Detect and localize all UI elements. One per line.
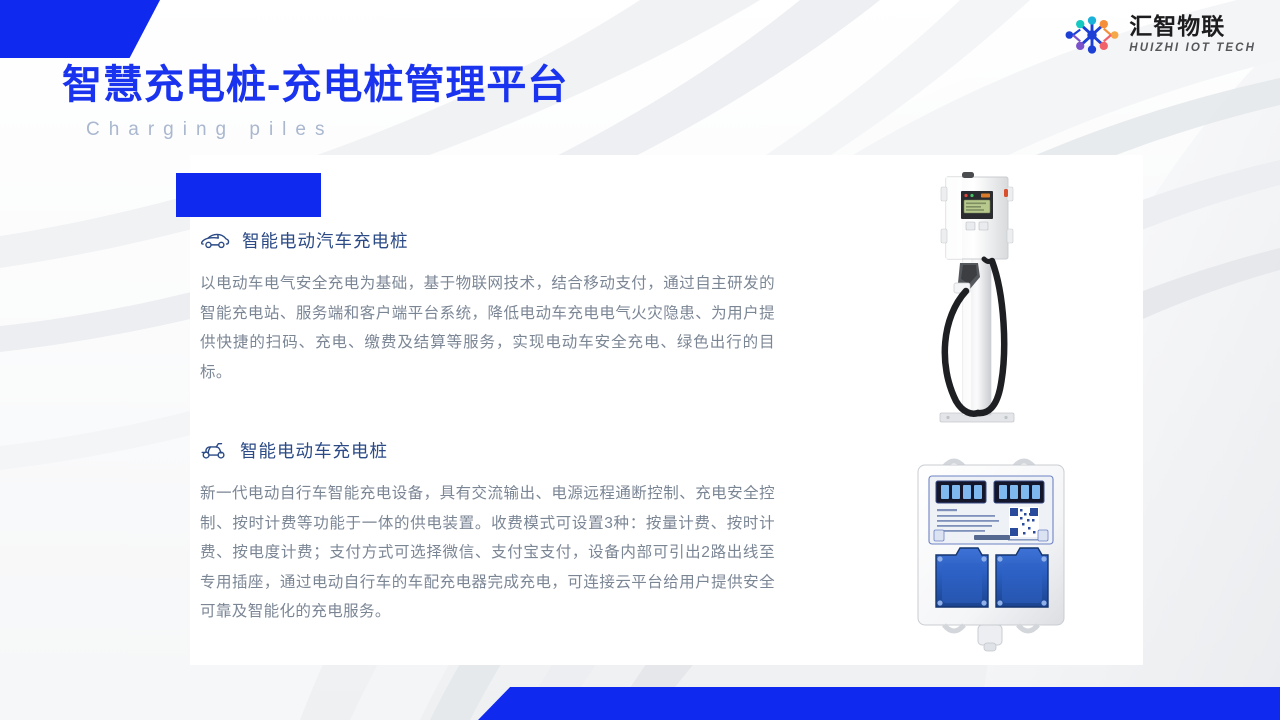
page-subtitle: Charging piles bbox=[86, 119, 568, 141]
logo-chinese-name: 汇智物联 bbox=[1129, 15, 1225, 38]
car-icon bbox=[200, 230, 230, 252]
section-1-body: 以电动车电气安全充电为基础，基于物联网技术，结合移动支付，通过自主研发的智能充电… bbox=[200, 269, 775, 387]
ebike-charging-box-photo bbox=[896, 447, 1086, 657]
page-title-block: 智慧充电桩-充电桩管理平台 Charging piles bbox=[62, 63, 568, 141]
section-ebike-charging-pile: 智能电动车充电桩 新一代电动自行车智能充电设备，具有交流输出、电源远程通断控制、… bbox=[200, 438, 775, 627]
section-1-title: 智能电动汽车充电桩 bbox=[242, 228, 409, 253]
section-ev-charging-pile: 智能电动汽车充电桩 以电动车电气安全充电为基础，基于物联网技术，结合移动支付，通… bbox=[200, 228, 775, 387]
brand-logo: 汇智物联 HUIZHI IOT TECH bbox=[1063, 14, 1256, 56]
molecule-network-icon bbox=[1063, 14, 1121, 56]
logo-english-name: HUIZHI IOT TECH bbox=[1129, 43, 1256, 55]
page-title: 智慧充电桩-充电桩管理平台 bbox=[62, 63, 568, 107]
slide-root: 智慧充电桩-充电桩管理平台 Charging piles bbox=[0, 0, 1280, 720]
scooter-icon bbox=[200, 440, 228, 462]
section-tag-badge bbox=[176, 173, 321, 217]
logo-text-block: 汇智物联 HUIZHI IOT TECH bbox=[1129, 15, 1256, 55]
section-2-body: 新一代电动自行车智能充电设备，具有交流输出、电源远程通断控制、充电安全控制、按时… bbox=[200, 479, 775, 627]
ev-charging-pile-photo bbox=[908, 165, 1073, 430]
decor-top-left-blue-shape bbox=[0, 0, 160, 58]
section-1-header: 智能电动汽车充电桩 bbox=[200, 228, 775, 253]
section-2-title: 智能电动车充电桩 bbox=[240, 438, 388, 463]
section-2-header: 智能电动车充电桩 bbox=[200, 438, 775, 463]
decor-bottom-blue-shape bbox=[478, 687, 1280, 720]
content-card: 智能电动汽车充电桩 以电动车电气安全充电为基础，基于物联网技术，结合移动支付，通… bbox=[190, 155, 1143, 665]
